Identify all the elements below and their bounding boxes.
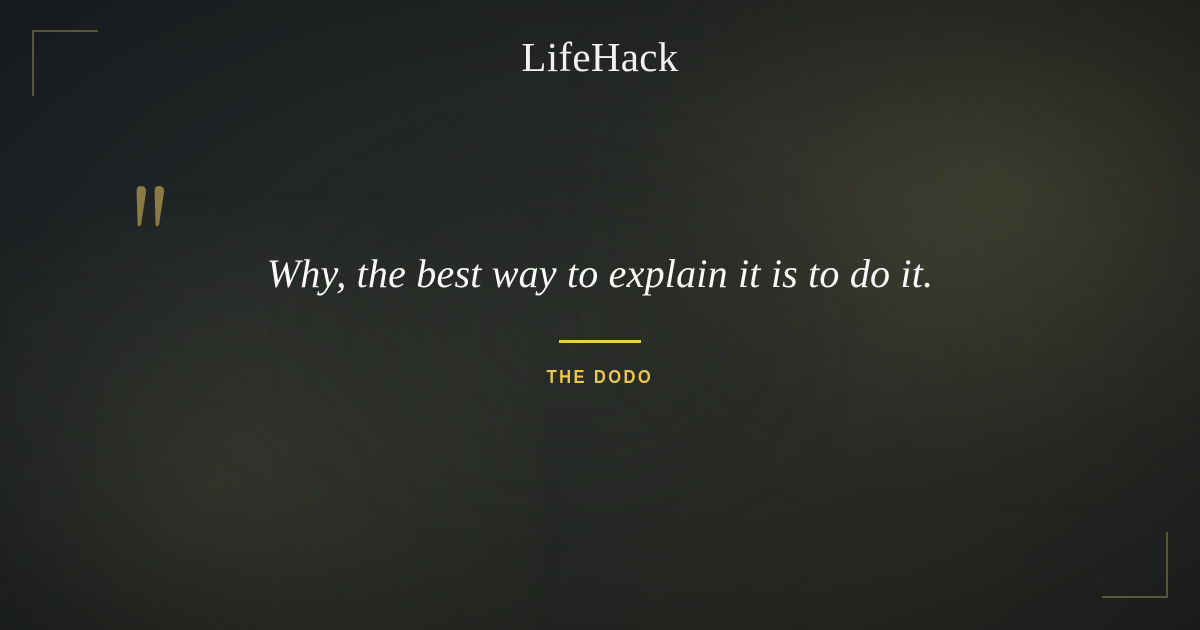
quote-card: LifeHack Why, the best way to explain it… <box>0 0 1200 630</box>
quote-attribution: THE DODO <box>547 367 654 388</box>
gold-divider <box>559 340 641 343</box>
quote-content: Why, the best way to explain it is to do… <box>0 0 1200 630</box>
quote-text: Why, the best way to explain it is to do… <box>267 250 934 297</box>
